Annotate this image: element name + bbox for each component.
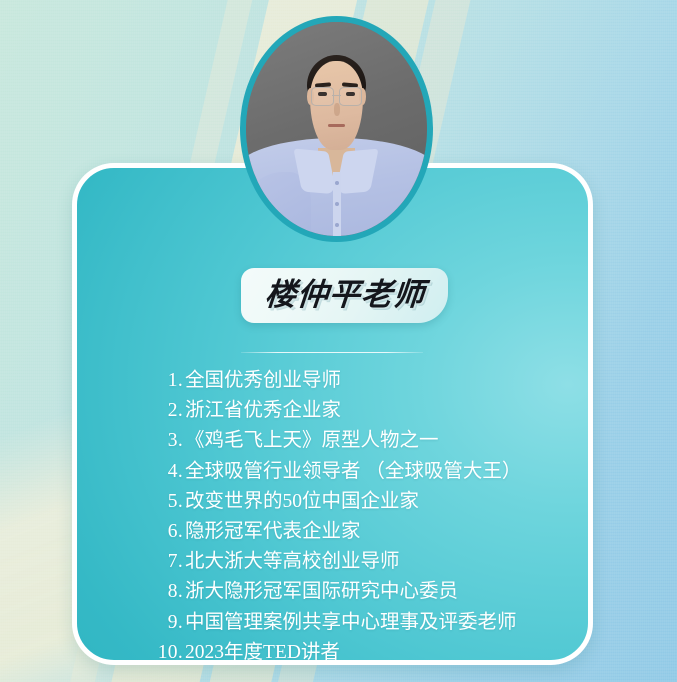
credentials-list: 1. 全国优秀创业导师 2. 浙江省优秀企业家 3. 《鸡毛飞上天》原型人物之一… — [77, 366, 588, 665]
list-item: 5. 改变世界的50位中国企业家 — [77, 487, 588, 517]
list-item-number: 8. — [151, 577, 183, 607]
list-item-number: 6. — [151, 517, 183, 547]
list-item-number: 4. — [151, 457, 183, 487]
speaker-portrait — [240, 16, 433, 242]
list-item-number: 9. — [151, 608, 183, 638]
list-item: 10. 2023年度TED讲者 — [77, 638, 588, 665]
list-item-text: 北大浙大等高校创业导师 — [185, 547, 400, 577]
list-item-number: 2. — [151, 396, 183, 426]
list-item-number: 10. — [151, 638, 183, 665]
portrait-illustration — [246, 22, 427, 236]
glasses-lens-left — [311, 87, 334, 106]
portrait-nose — [334, 103, 340, 116]
list-item: 3. 《鸡毛飞上天》原型人物之一 — [77, 426, 588, 456]
speaker-name: 楼仲平老师 — [263, 280, 426, 311]
section-divider — [241, 352, 423, 353]
list-item-text: 2023年度TED讲者 — [185, 638, 340, 665]
list-item: 2. 浙江省优秀企业家 — [77, 396, 588, 426]
list-item: 8. 浙大隐形冠军国际研究中心委员 — [77, 577, 588, 607]
list-item: 4. 全球吸管行业领导者 （全球吸管大王） — [77, 457, 588, 487]
list-item: 1. 全国优秀创业导师 — [77, 366, 588, 396]
list-item-text: 中国管理案例共享中心理事及评委老师 — [185, 608, 517, 638]
list-item: 6. 隐形冠军代表企业家 — [77, 517, 588, 547]
glasses-lens-right — [339, 87, 362, 106]
list-item-number: 1. — [151, 366, 183, 396]
portrait-mouth — [328, 124, 344, 127]
glasses-icon — [311, 87, 362, 104]
speaker-name-badge: 楼仲平老师 — [241, 268, 448, 323]
list-item-text: 隐形冠军代表企业家 — [185, 517, 361, 547]
list-item: 7. 北大浙大等高校创业导师 — [77, 547, 588, 577]
list-item-text: 全国优秀创业导师 — [185, 366, 341, 396]
list-item-text: 浙江省优秀企业家 — [185, 396, 341, 426]
list-item-text: 全球吸管行业领导者 （全球吸管大王） — [185, 457, 521, 487]
list-item: 9. 中国管理案例共享中心理事及评委老师 — [77, 608, 588, 638]
list-item-number: 5. — [151, 487, 183, 517]
list-item-number: 3. — [151, 426, 183, 456]
list-item-text: 浙大隐形冠军国际研究中心委员 — [185, 577, 458, 607]
list-item-text: 《鸡毛飞上天》原型人物之一 — [185, 426, 439, 456]
list-item-number: 7. — [151, 547, 183, 577]
glasses-bridge — [332, 95, 340, 97]
poster-stage: 楼仲平老师 1. 全国优秀创业导师 2. 浙江省优秀企业家 3. 《鸡毛飞上天》… — [0, 0, 677, 682]
list-item-text: 改变世界的50位中国企业家 — [185, 487, 419, 517]
